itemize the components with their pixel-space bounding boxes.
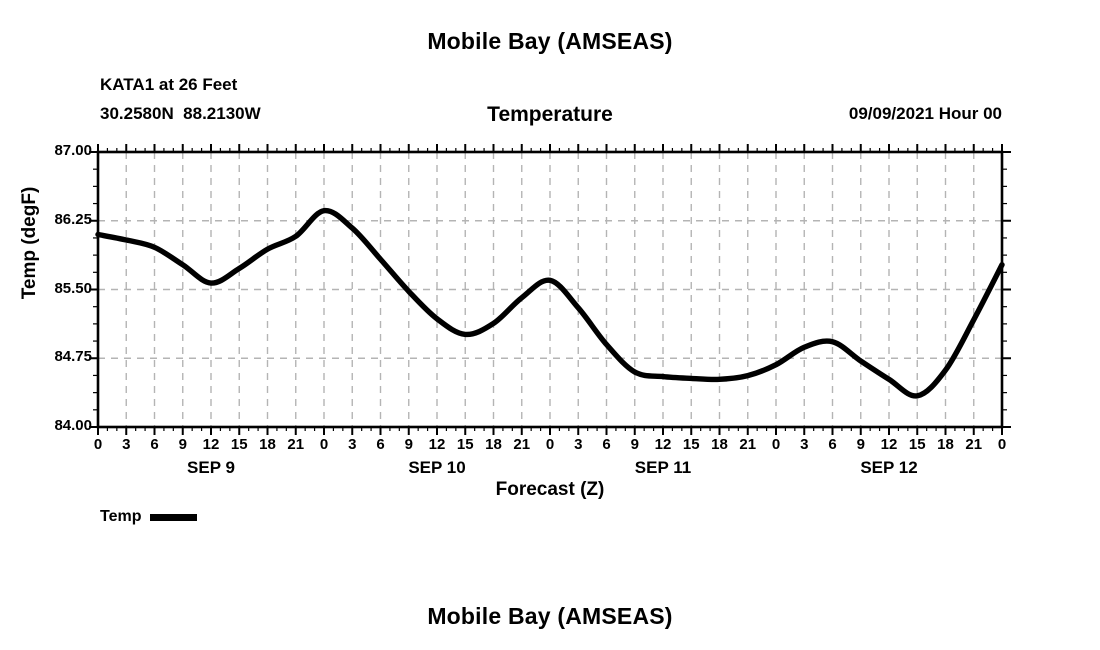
chart-page: Mobile Bay (AMSEAS) KATA1 at 26 Feet 30.… xyxy=(0,0,1100,650)
y-tick-label: 84.00 xyxy=(22,417,92,434)
x-axis-day-label: SEP 9 xyxy=(131,458,291,478)
legend: Temp xyxy=(100,508,197,526)
temperature-line-chart xyxy=(0,0,1100,650)
legend-line-swatch xyxy=(150,514,197,521)
x-axis-title: Forecast (Z) xyxy=(98,479,1002,501)
x-tick-label: 0 xyxy=(982,436,1022,453)
x-axis-day-label: SEP 10 xyxy=(357,458,517,478)
x-axis-day-label: SEP 11 xyxy=(583,458,743,478)
legend-label-temp: Temp xyxy=(100,508,141,526)
y-tick-label: 84.75 xyxy=(22,348,92,365)
y-tick-label-group: 87.0086.2585.5084.7584.00 xyxy=(22,0,92,650)
x-axis-day-label: SEP 12 xyxy=(809,458,969,478)
y-tick-label: 87.00 xyxy=(22,142,92,159)
plot-area: Temp (degF) Forecast (Z) 87.0086.2585.50… xyxy=(0,0,1100,650)
y-tick-label: 86.25 xyxy=(22,211,92,228)
y-tick-label: 85.50 xyxy=(22,280,92,297)
series-line-temp xyxy=(98,211,1002,396)
footer-title: Mobile Bay (AMSEAS) xyxy=(0,603,1100,630)
